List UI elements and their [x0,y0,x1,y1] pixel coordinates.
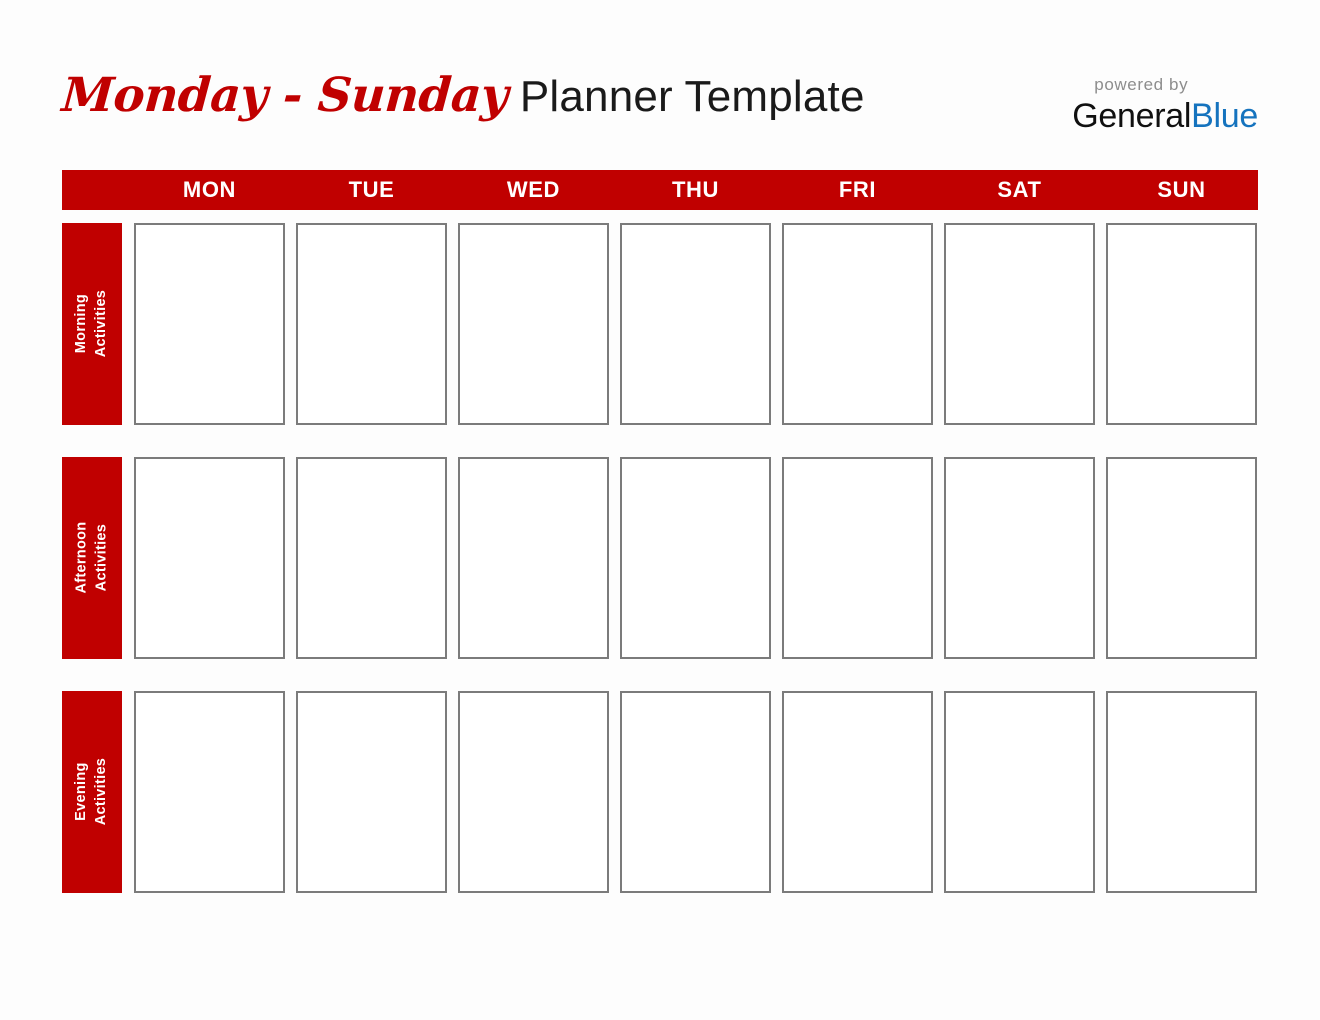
row-label-evening-line2: Activities [92,758,112,825]
planner-cell-evening-fri[interactable] [782,691,933,893]
row-cells-evening [134,691,1258,893]
planner-cell-morning-thu[interactable] [620,223,771,425]
row-label-evening-line1: Evening [72,758,92,825]
row-label-afternoon: Afternoon Activities [62,457,122,659]
planner-cell-evening-mon[interactable] [134,691,285,893]
page-title-plain: Planner Template [520,75,865,119]
row-cells-morning [134,223,1258,425]
planner-cell-afternoon-wed[interactable] [458,457,609,659]
row-label-morning-line1: Morning [72,290,92,357]
planner-cell-evening-wed[interactable] [458,691,609,893]
planner-cell-evening-sat[interactable] [944,691,1095,893]
page-title-script: Monday - Sunday [60,72,509,119]
planner-cell-morning-mon[interactable] [134,223,285,425]
planner-cell-afternoon-sat[interactable] [944,457,1095,659]
row-label-evening-text: Evening Activities [72,758,111,825]
row-label-morning-text: Morning Activities [72,290,111,357]
row-label-afternoon-text: Afternoon Activities [72,522,111,594]
weekday-header-wed: WED [458,170,609,210]
planner-cell-afternoon-fri[interactable] [782,457,933,659]
weekday-header-thu: THU [620,170,771,210]
brand-name-general: General [1072,97,1191,135]
planner-cell-evening-tue[interactable] [296,691,447,893]
row-label-afternoon-line1: Afternoon [72,522,92,594]
row-label-morning: Morning Activities [62,223,122,425]
weekday-header-row: MONTUEWEDTHUFRISATSUN [134,170,1258,210]
row-label-evening: Evening Activities [62,691,122,893]
planner-cell-morning-sun[interactable] [1106,223,1257,425]
weekday-header-tue: TUE [296,170,447,210]
brand-powered-by-label: powered by [1094,76,1258,93]
planner-cell-morning-tue[interactable] [296,223,447,425]
weekday-header-sun: SUN [1106,170,1257,210]
planner-row-morning: Morning Activities [62,223,1258,425]
brand-logo: powered by GeneralBlue [1072,76,1258,133]
page-title: Monday - Sunday Planner Template [62,72,865,119]
planner-cell-evening-thu[interactable] [620,691,771,893]
weekday-header-mon: MON [134,170,285,210]
page-header: Monday - Sunday Planner Template powered… [62,72,1258,148]
planner-cell-evening-sun[interactable] [1106,691,1257,893]
weekday-header-bar: MONTUEWEDTHUFRISATSUN [62,170,1258,210]
planner-cell-afternoon-mon[interactable] [134,457,285,659]
planner-cell-morning-fri[interactable] [782,223,933,425]
planner-cell-afternoon-thu[interactable] [620,457,771,659]
row-label-morning-line2: Activities [92,290,112,357]
planner-cell-morning-wed[interactable] [458,223,609,425]
row-cells-afternoon [134,457,1258,659]
planner-cell-afternoon-sun[interactable] [1106,457,1257,659]
planner-row-afternoon: Afternoon Activities [62,457,1258,659]
weekday-header-sat: SAT [944,170,1095,210]
weekday-header-fri: FRI [782,170,933,210]
planner-cell-morning-sat[interactable] [944,223,1095,425]
planner-cell-afternoon-tue[interactable] [296,457,447,659]
row-label-afternoon-line2: Activities [92,522,112,594]
brand-name: GeneralBlue [1072,99,1258,133]
brand-name-blue: Blue [1191,97,1258,135]
planner-page: Monday - Sunday Planner Template powered… [0,0,1320,1020]
planner-row-evening: Evening Activities [62,691,1258,893]
